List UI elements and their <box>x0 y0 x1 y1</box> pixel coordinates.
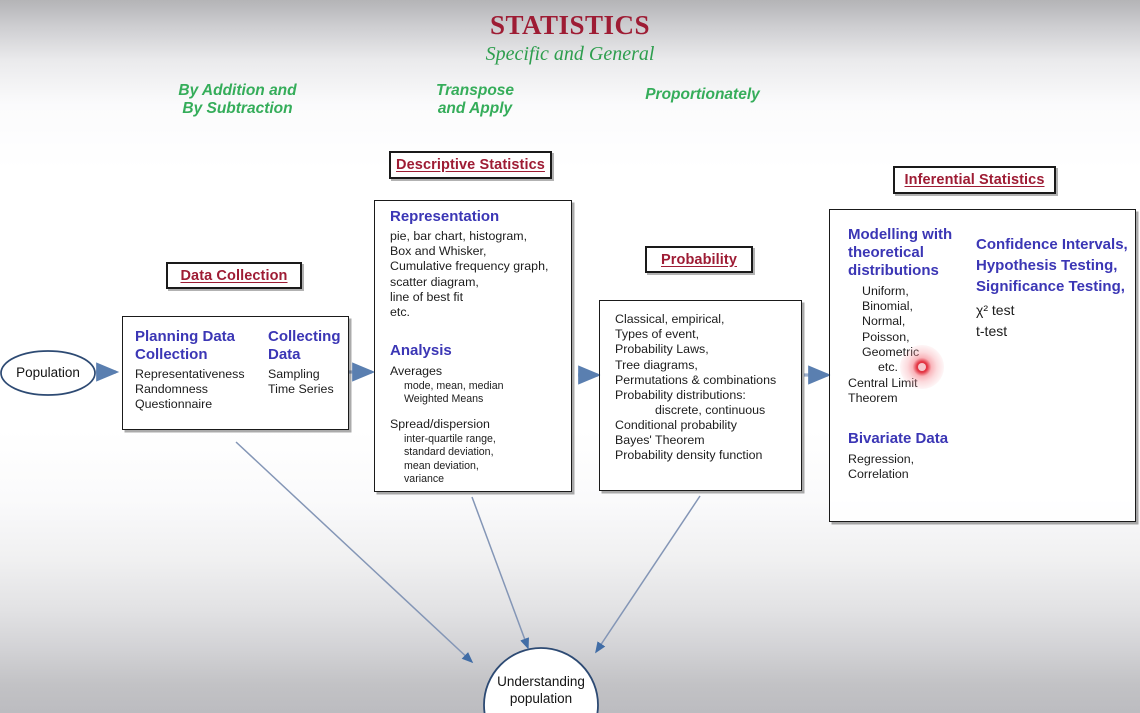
label-box-probability[interactable]: Probability <box>645 246 753 273</box>
page-title: STATISTICS <box>0 10 1140 41</box>
label-probability: Probability <box>661 252 737 268</box>
list-collecting-data: Sampling Time Series <box>268 367 358 397</box>
box-probability[interactable]: Classical, empirical, Types of event, Pr… <box>599 300 802 491</box>
page-subtitle: Specific and General <box>0 43 1140 66</box>
green-header-proportionately: Proportionately <box>625 86 780 104</box>
heading-analysis: Analysis <box>390 342 452 360</box>
list-probability-distributions: discrete, continuous <box>615 403 841 418</box>
heading-representation: Representation <box>390 208 499 226</box>
label-data-collection: Data Collection <box>180 268 287 284</box>
box-descriptive-statistics[interactable]: Representation pie, bar chart, histogram… <box>374 200 572 492</box>
heading-modelling-theoretical-distributions: Modelling with theoretical distributions <box>848 226 968 280</box>
text-t-test: t-test <box>976 324 1007 339</box>
slide-canvas: STATISTICS Specific and General By Addit… <box>0 0 1140 713</box>
list-probability-tail: Conditional probability Bayes' Theorem P… <box>615 418 801 464</box>
label-box-descriptive-statistics[interactable]: Descriptive Statistics <box>389 151 552 179</box>
label-spread-dispersion: Spread/dispersion <box>390 417 490 432</box>
list-spread-dispersion: inter-quartile range, standard deviation… <box>390 433 574 487</box>
label-box-inferential-statistics[interactable]: Inferential Statistics <box>893 166 1056 194</box>
box-data-collection[interactable]: Planning Data Collection Representativen… <box>122 316 349 430</box>
node-population-label: Population <box>0 364 96 381</box>
heading-bivariate-data: Bivariate Data <box>848 430 948 448</box>
list-probability-main: Classical, empirical, Types of event, Pr… <box>615 312 801 403</box>
label-inferential-statistics: Inferential Statistics <box>905 172 1045 188</box>
green-header-transpose-apply: Transpose and Apply <box>400 82 550 118</box>
list-bivariate-data: Regression, Correlation <box>848 452 978 482</box>
list-representation: pie, bar chart, histogram, Box and Whisk… <box>390 229 568 320</box>
list-averages: mode, mean, median Weighted Means <box>390 380 574 407</box>
label-averages: Averages <box>390 364 442 379</box>
heading-inference-methods: Confidence Intervals, Hypothesis Testing… <box>976 234 1131 297</box>
label-descriptive-statistics: Descriptive Statistics <box>396 157 545 173</box>
green-header-addition-subtraction: By Addition and By Subtraction <box>155 82 320 118</box>
box-inferential-statistics[interactable]: Modelling with theoretical distributions… <box>829 209 1136 522</box>
label-box-data-collection[interactable]: Data Collection <box>166 262 302 289</box>
text-chi-squared-test: χ² test <box>976 303 1014 318</box>
list-theoretical-distributions-etc: etc. <box>878 360 898 375</box>
heading-collecting-data: Collecting Data <box>268 328 358 364</box>
node-understanding-population-label: Understanding population <box>478 673 604 707</box>
cursor-click-indicator <box>900 345 944 389</box>
list-planning-data-collection: Representativeness Randomness Questionna… <box>135 367 265 413</box>
heading-planning-data-collection: Planning Data Collection <box>135 328 255 364</box>
